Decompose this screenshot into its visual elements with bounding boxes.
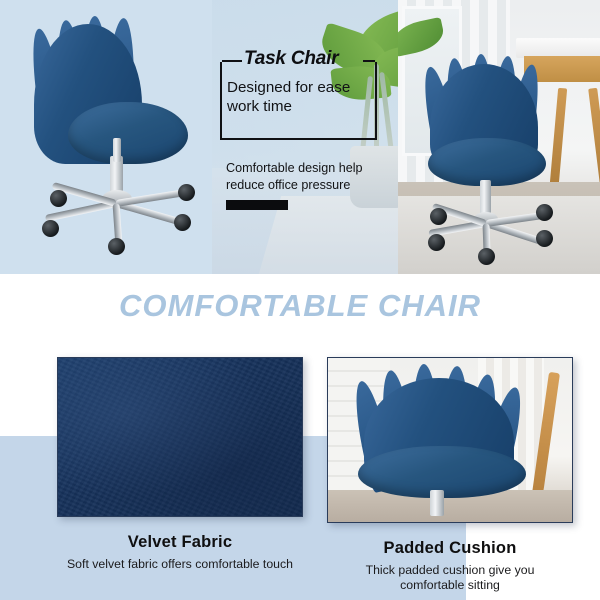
padded-cushion-title: Padded Cushion [312,539,588,558]
velvet-fabric-caption: Velvet Fabric Soft velvet fabric offers … [42,533,318,572]
section-heading: COMFORTABLE CHAIR [0,288,600,324]
chair-height-lever [113,138,121,162]
callout-title: Task Chair [244,48,364,70]
padded-cushion-photo [328,358,572,522]
chair-illustration-left [14,14,204,264]
chair-caster-wheel [536,204,553,221]
chair-caster-wheel [50,190,67,207]
product-photo-left [0,0,212,274]
padded-cushion-subtitle-line-1: Thick padded cushion give you [312,563,588,578]
product-photo-right [398,0,600,274]
chair-caster-wheel [42,220,59,237]
callout-body-line-1: Designed for ease [227,79,379,98]
callout-body-line-2: work time [227,98,379,117]
padded-cushion-subtitle: Thick padded cushion give you comfortabl… [312,563,588,594]
top-panel-subtitle: Comfortable design help reduce office pr… [226,160,396,210]
accent-bar [226,200,288,210]
chair-caster-wheel [174,214,191,231]
chair-caster-wheel [536,230,553,247]
chair-caster-wheel [478,248,495,265]
chair-seat [68,102,188,164]
chair-caster-wheel [178,184,195,201]
chair-caster-wheel [108,238,125,255]
chair-closeup [356,364,546,514]
desk-leg [588,88,600,184]
velvet-fabric-title: Velvet Fabric [42,533,318,552]
chair-gas-cylinder [430,490,444,516]
velvet-fabric-swatch [58,358,302,516]
padded-cushion-image-frame [327,357,573,523]
subtitle-line-1: Comfortable design help [226,160,396,177]
callout-body: Designed for ease work time [227,79,379,116]
card-padded-cushion: Padded Cushion Thick padded cushion give… [327,357,573,587]
padded-cushion-subtitle-line-2: comfortable sitting [312,578,588,593]
card-velvet-fabric: Velvet Fabric Soft velvet fabric offers … [57,357,303,587]
chair-caster-wheel [428,234,445,251]
chair-illustration-right [422,52,582,262]
task-chair-callout: Task Chair Designed for ease work time [220,62,377,140]
subtitle-line-2: reduce office pressure [226,177,396,194]
padded-cushion-caption: Padded Cushion Thick padded cushion give… [312,539,588,594]
chair-seat [428,138,546,186]
top-panel: Task Chair Designed for ease work time C… [0,0,600,274]
velvet-fabric-subtitle-line-1: Soft velvet fabric offers comfortable to… [42,557,318,572]
chair-caster-wheel [430,208,447,225]
velvet-fabric-image-frame [57,357,303,517]
